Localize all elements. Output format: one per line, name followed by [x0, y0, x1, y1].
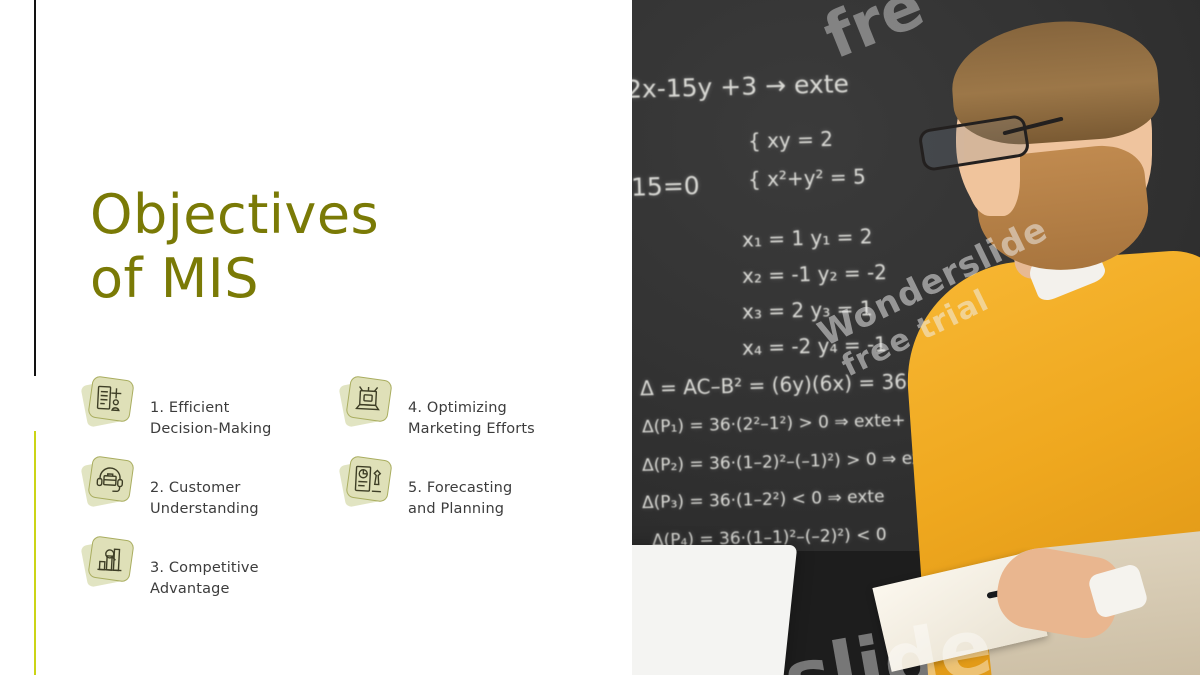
objectives-column-left: 1. Efficient Decision-Making 2. Cus: [82, 378, 342, 618]
megaphone-monitor-icon: [340, 378, 392, 430]
slide-root: Objectives of MIS: [0, 0, 1200, 675]
chalk-line: x₄ = -2 y₄ = -1: [742, 332, 887, 360]
chalk-line: { xy = 2: [748, 127, 834, 153]
chalk-line: x₃ = 2 y₃ = 1: [742, 296, 873, 323]
chalk-line: x₂ = -1 y₂ = -2: [742, 260, 887, 288]
chalk-line: x₁ = 1 y₁ = 2: [742, 224, 873, 251]
list-item-label: 1. Efficient Decision-Making: [150, 398, 340, 440]
list-item[interactable]: 5. Forecasting and Planning: [340, 458, 600, 538]
chalk-line: -15=0: [632, 171, 700, 202]
list-item[interactable]: 3. Competitive Advantage: [82, 538, 342, 618]
chalk-line: 2x-15y +3 → exte: [632, 69, 849, 104]
page-title: Objectives of MIS: [90, 183, 570, 310]
document-person-icon: [82, 378, 134, 430]
page-title-line-1: Objectives: [90, 183, 570, 247]
chalk-line: { x²+y² = 5: [748, 164, 866, 191]
page-title-line-2: of MIS: [90, 247, 570, 311]
laptop-lid: [632, 545, 797, 675]
photo-panel: 2x-15y +3 → exte -15=0 { xy = 2 { x²+y² …: [632, 0, 1200, 675]
accent-rule-bottom: [34, 431, 36, 675]
list-item-label: 3. Competitive Advantage: [150, 558, 340, 600]
person-photo: [880, 0, 1200, 675]
list-item-label: 2. Customer Understanding: [150, 478, 340, 520]
accent-rule-top: [34, 0, 36, 376]
document-chesspiece-icon: [340, 458, 392, 510]
list-item[interactable]: 2. Customer Understanding: [82, 458, 342, 538]
list-item[interactable]: 1. Efficient Decision-Making: [82, 378, 342, 458]
headset-briefcase-icon: [82, 458, 134, 510]
objectives-column-right: 4. Optimizing Marketing Efforts 5.: [340, 378, 600, 538]
list-item[interactable]: 4. Optimizing Marketing Efforts: [340, 378, 600, 458]
list-item-label: 4. Optimizing Marketing Efforts: [408, 398, 598, 440]
list-item-label: 5. Forecasting and Planning: [408, 478, 598, 520]
bar-chart-icon: [82, 538, 134, 590]
